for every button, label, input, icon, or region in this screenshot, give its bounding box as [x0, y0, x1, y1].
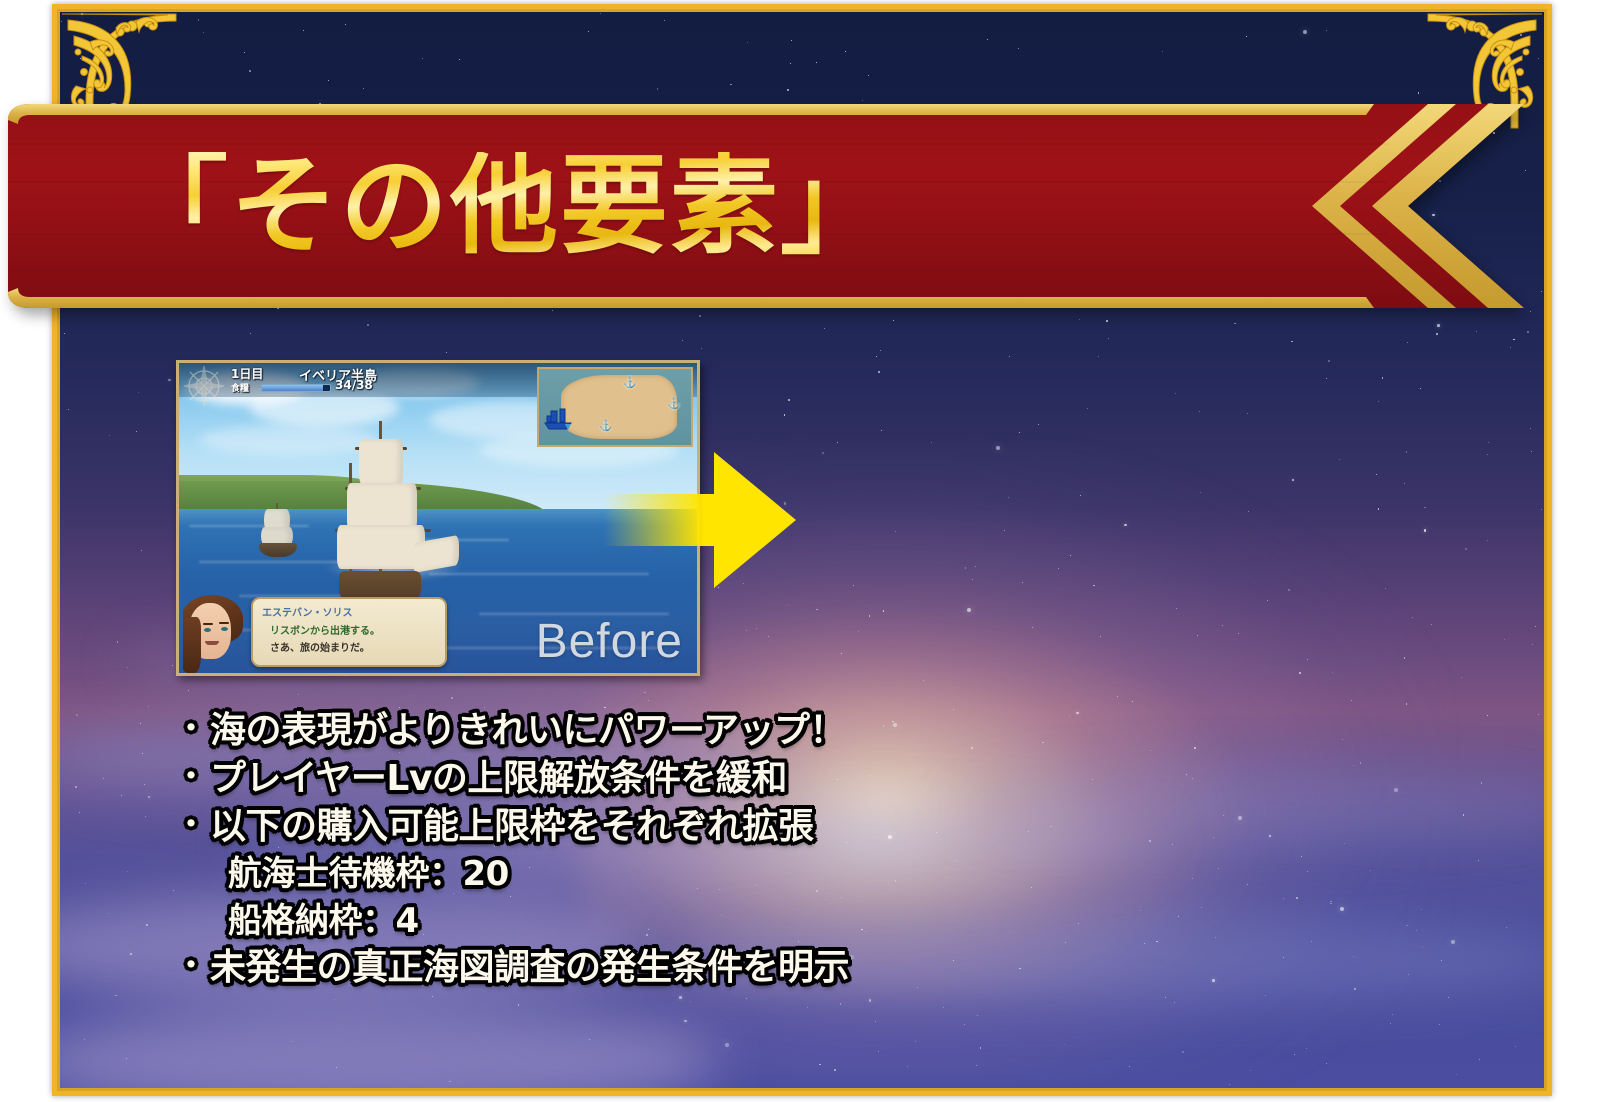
minimap-landmass	[561, 375, 677, 439]
anchor-icon: ⚓	[623, 378, 637, 389]
bullet-marker-icon: ・	[174, 808, 208, 842]
player-ship	[309, 421, 469, 611]
bullet-marker-icon: ・	[174, 712, 208, 746]
bullet-text: 船格納枠：4	[228, 903, 419, 939]
bullet-item: ・未発生の真正海図調査の発生条件を明示	[174, 949, 1174, 987]
dialogue-box[interactable]: エステバン・ソリス リスボンから出港する。 さあ、旅の始まりだ。	[251, 597, 447, 667]
dialogue-line-2: さあ、旅の始まりだ。	[270, 639, 370, 654]
title-ribbon	[8, 104, 1524, 308]
dialogue-speaker: エステバン・ソリス	[262, 604, 353, 619]
dialogue-line-1: リスボンから出港する。	[270, 622, 380, 637]
minimap-ship-marker	[543, 407, 573, 431]
hud-day-counter: 1日目	[231, 365, 263, 382]
before-label: Before	[536, 614, 683, 669]
page-root: 「その他要素」	[0, 0, 1606, 1102]
compass-icon	[182, 364, 226, 408]
transition-arrow-icon	[604, 452, 796, 588]
minimap[interactable]: ⚓ ⚓ ⚓	[537, 367, 693, 447]
bullet-item: ・海の表現がよりきれいにパワーアップ！	[174, 712, 1174, 750]
bullet-text: 未発生の真正海図調査の発生条件を明示	[210, 949, 849, 987]
hud-food-label: 食糧	[231, 381, 249, 394]
escort-ship	[251, 499, 305, 561]
hud-food-bar	[261, 384, 331, 392]
bullet-text: 航海士待機枠：20	[228, 856, 509, 892]
anchor-icon: ⚓	[599, 421, 613, 432]
anchor-icon: ⚓	[667, 399, 681, 410]
bullet-text: プレイヤーLvの上限解放条件を緩和	[210, 760, 787, 798]
bullet-marker-icon: ・	[174, 949, 208, 983]
feature-bullet-list: ・海の表現がよりきれいにパワーアップ！・プレイヤーLvの上限解放条件を緩和・以下…	[174, 712, 1174, 997]
bullet-subitem: 船格納枠：4	[228, 903, 1174, 939]
hud-food-value: 34/38	[335, 378, 373, 392]
character-portrait	[183, 595, 245, 673]
bullet-item: ・プレイヤーLvの上限解放条件を緩和	[174, 760, 1174, 798]
bullet-subitem: 航海士待機枠：20	[228, 856, 1174, 892]
bullet-text: 以下の購入可能上限枠をそれぞれ拡張	[210, 808, 814, 846]
bullet-marker-icon: ・	[174, 760, 208, 794]
bullet-item: ・以下の購入可能上限枠をそれぞれ拡張	[174, 808, 1174, 846]
bullet-text: 海の表現がよりきれいにパワーアップ！	[210, 712, 845, 750]
